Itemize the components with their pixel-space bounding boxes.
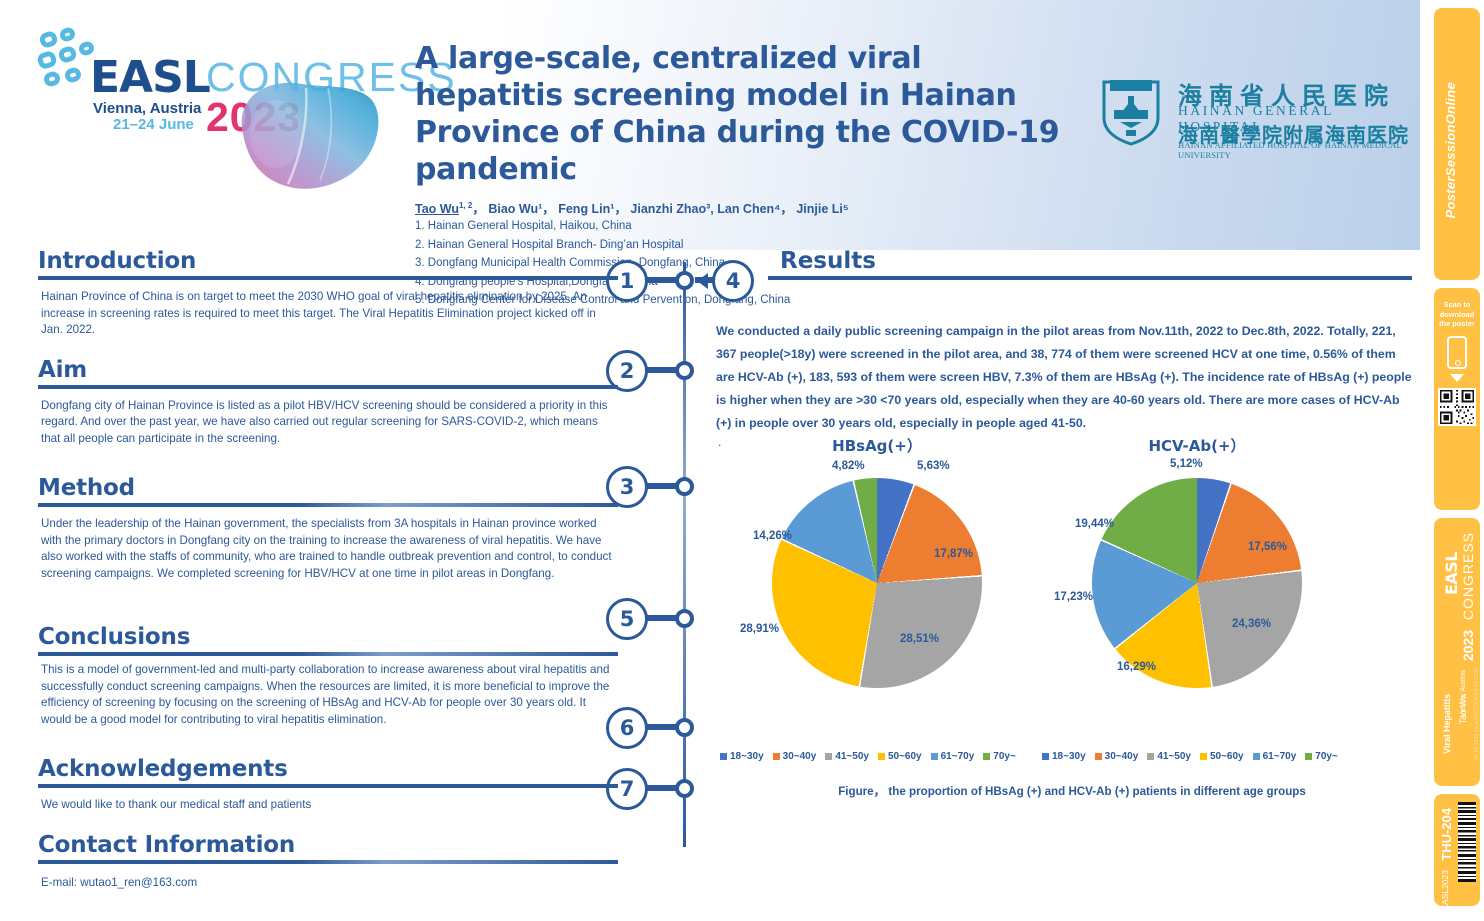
charts-area: HBsAg(+） 5,63% 17,87% 28,51% 28,91% 14,2… [712,435,1412,815]
legend-item: 41~50y [1147,751,1191,762]
contact-email[interactable]: E-mail: wutao1_ren@163.com [38,875,618,892]
sidebar-easl-brand: EASL [1442,552,1461,595]
legend-swatch [1042,753,1049,760]
section-heading-introduction: Introduction [38,248,618,274]
hainan-general-hospital-logo: 海南省人民医院 HAINAN GENERAL HOSPITAL 海南醫學院附属海… [1100,78,1420,148]
legend-label: 18~30y [730,751,764,762]
pie-label-hcvab-61-70: 17,23% [1054,591,1093,603]
sidebar-brand-card: PosterSessionOnline [1434,8,1480,280]
legend-swatch [720,753,727,760]
easl-wordmark: EASL [90,52,210,103]
pie-label-hbsag-30-40: 17,87% [934,548,973,560]
pie-label-hbsag-18-30: 5,63% [917,460,950,472]
pie-hbsag [772,478,982,688]
section-body-method: Under the leadership of the Hainan gover… [38,516,616,582]
legend-label: 41~50y [1157,751,1191,762]
section-rule [38,860,618,864]
figure-caption: Figure， the proportion of HBsAg (+) and … [762,783,1382,799]
pie-wrap-hcvab: 5,12% 17,56% 24,36% 16,29% 17,23% 19,44% [1032,478,1362,708]
legend-item: 61~70y [931,751,975,762]
legend-item: 70y~ [983,751,1016,762]
pie-label-hbsag-50-60: 28,91% [740,623,779,635]
legend-swatch [931,753,938,760]
chart-hcvab: HCV-Ab(+） 5,12% 17,56% 24,36% 16,29% 17,… [1032,435,1362,708]
section-heading-conclusions: Conclusions [38,624,618,650]
co-authors: Biao Wu¹， Feng Lin¹， Jianzhi Zhao³, Lan … [488,202,848,216]
section-body-aim: Dongfang city of Hainan Province is list… [38,398,618,448]
barcode-icon [1458,802,1476,882]
timeline-arrow-4 [697,273,708,289]
liver-graphic-icon [228,68,388,198]
legend-item: 41~50y [825,751,869,762]
section-conclusions: Conclusions This is a model of governmen… [38,624,618,728]
legend-label: 50~60y [1210,751,1244,762]
section-heading-aim: Aim [38,357,618,383]
pie-hcvab [1092,478,1302,688]
presenting-author: Tao Wu [415,202,459,216]
section-heading-acknowledgements: Acknowledgements [38,756,618,782]
section-heading-contact: Contact Information [38,832,618,858]
sidebar-event-code: EASL2023 [1440,870,1450,911]
sidebar-poster-code-card: THU-204 EASL2023 [1434,794,1480,906]
legend-label: 70y~ [993,751,1016,762]
qr-code-icon[interactable] [1438,388,1476,426]
pie-label-hcvab-18-30: 5,12% [1170,458,1203,470]
section-rule [768,276,1412,280]
poster-edge [1420,0,1428,921]
legend-label: 41~50y [835,751,869,762]
pie-label-hbsag-70plus: 4,82% [832,460,865,472]
section-rule [38,784,618,788]
sidebar-scan-card[interactable]: Scan to download the poster [1434,288,1480,510]
section-body-conclusions: This is a model of government-led and mu… [38,662,618,728]
hospital-affiliate-en: HAINAN AFFILIATED HOSPITAL OF HAINAN MED… [1178,140,1420,160]
sidebar-copyright: ID 10.3252 pie.EASLCONGRESS 2023 [1474,668,1480,759]
section-body-acknowledgements: We would like to thank our medical staff… [38,797,618,814]
pie-label-hbsag-41-50: 28,51% [900,633,939,645]
legend-swatch [1095,753,1102,760]
section-heading-results: Results [712,248,1412,274]
legend-label: 50~60y [888,751,922,762]
legend-item: 70y~ [1305,751,1338,762]
section-rule [38,276,618,280]
section-method: Method Under the leadership of the Haina… [38,475,618,582]
section-body-introduction: Hainan Province of China is on target to… [38,289,618,339]
legend-item: 61~70y [1253,751,1297,762]
section-rule [38,385,618,389]
legend-swatch [1147,753,1154,760]
section-rule [38,503,618,507]
poster-id: THU-204 [1439,808,1454,861]
legend-item: 30~40y [773,751,817,762]
legend-swatch [1305,753,1312,760]
presenting-author-affil: 1, 2 [459,201,472,210]
legend-hcvab: 18~30y 30~40y 41~50y 50~60y 61~70y 70y~ [1042,751,1338,762]
timeline-spine [683,262,686,847]
section-body-results: We conducted a daily public screening ca… [712,320,1412,435]
section-introduction: Introduction Hainan Province of China is… [38,248,618,339]
author-list: Tao Wu1, 2， Biao Wu¹， Feng Lin¹， Jianzhi… [415,198,1065,217]
legend-hbsag: 18~30y 30~40y 41~50y 50~60y 61~70y 70y~ [720,751,1016,762]
legend-item: 18~30y [1042,751,1086,762]
easl-city: Vienna, Austria [93,100,201,117]
hospital-shield-icon [1100,78,1162,146]
pie-label-hcvab-50-60: 16,29% [1117,661,1156,673]
affiliation-item: 1. Hainan General Hospital, Haikou, Chin… [415,218,1065,236]
pie-label-hcvab-30-40: 17,56% [1248,541,1287,553]
legend-item: 18~30y [720,751,764,762]
sidebar-author: Tao Wu [1458,694,1468,724]
sidebar-easl-card: CONGRESS 2023 EASL Vienna, Austria ID 10… [1434,518,1480,786]
section-contact: Contact Information E-mail: wutao1_ren@1… [38,832,618,892]
legend-label: 61~70y [1263,751,1297,762]
chart-title-hcvab: HCV-Ab(+） [1032,435,1362,456]
section-heading-method: Method [38,475,618,501]
legend-label: 61~70y [941,751,975,762]
right-column: Results We conducted a daily public scre… [712,248,1412,449]
legend-swatch [1253,753,1260,760]
legend-swatch [1200,753,1207,760]
chart-hbsag: HBsAg(+） 5,63% 17,87% 28,51% 28,91% 14,2… [712,435,1042,708]
section-rule [38,652,618,656]
chart-title-hbsag: HBsAg(+） [712,435,1042,456]
sidebar-congress-label: CONGRESS [1460,532,1476,620]
scan-instructions: Scan to download the poster [1434,300,1480,329]
pie-label-hbsag-61-70: 14,26% [753,530,792,542]
legend-swatch [825,753,832,760]
legend-swatch [878,753,885,760]
sidebar-congress-year: 2023 [1460,630,1476,661]
section-aim: Aim Dongfang city of Hainan Province is … [38,357,618,448]
pie-wrap-hbsag: 5,63% 17,87% 28,51% 28,91% 14,26% 4,82% [712,478,1042,708]
legend-swatch [983,753,990,760]
section-acknowledgements: Acknowledgements We would like to thank … [38,756,618,814]
legend-item: 50~60y [878,751,922,762]
page-title: A large-scale, centralized viral hepatit… [415,40,1065,188]
legend-swatch [773,753,780,760]
postersessiononline-brand: PosterSessionOnline [1443,82,1458,218]
legend-label: 18~30y [1052,751,1086,762]
pie-label-hcvab-41-50: 24,36% [1232,618,1271,630]
arrow-down-icon [1450,374,1464,382]
phone-icon [1447,336,1467,369]
legend-label: 30~40y [783,751,817,762]
legend-label: 70y~ [1315,751,1338,762]
poster-canvas: EASL Vienna, Austria 21–24 June CONGRESS… [0,0,1428,921]
pie-label-hcvab-70plus: 19,44% [1075,518,1114,530]
left-column: Introduction Hainan Province of China is… [38,248,618,897]
easl-dates: 21–24 June [113,116,194,133]
legend-label: 30~40y [1105,751,1139,762]
sidebar-topic: Viral Hepatitis [1442,694,1452,754]
poster-sidebar: PosterSessionOnline Scan to download the… [1428,0,1484,921]
section-results: Results We conducted a daily public scre… [712,248,1412,449]
legend-item: 30~40y [1095,751,1139,762]
poster-header: EASL Vienna, Austria 21–24 June CONGRESS… [0,0,1428,250]
legend-item: 50~60y [1200,751,1244,762]
